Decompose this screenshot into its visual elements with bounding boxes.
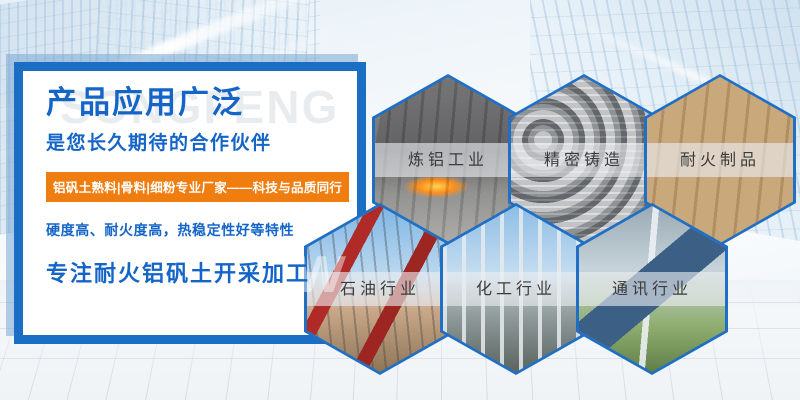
hexagon-caption: 通讯行业: [579, 272, 725, 306]
page-title: 产品应用广泛: [46, 86, 366, 119]
hexagon-caption: 炼铝工业: [375, 143, 521, 177]
promotional-banner: SONGFENG 产品应用广泛 是您长久期待的合作伙伴 铝矾土熟料|骨料|细粉专…: [0, 0, 800, 400]
feature-text: 硬度高、耐火度高，热稳定性好等特性: [46, 220, 366, 240]
status-badge: 铝矾土熟料|骨料|细粉专业厂家——科技与品质同行: [46, 172, 349, 202]
subtitle: 是您长久期待的合作伙伴: [46, 128, 366, 155]
hexagon-caption: 化工行业: [443, 272, 589, 306]
hexagon-caption: 耐火制品: [647, 143, 793, 177]
headline-block: SONGFENG 产品应用广泛 是您长久期待的合作伙伴 铝矾土熟料|骨料|细粉专…: [46, 86, 366, 288]
tagline: 专注耐火铝矾土开采加工: [46, 256, 366, 288]
hexagon-caption: 精密铸造: [511, 143, 657, 177]
